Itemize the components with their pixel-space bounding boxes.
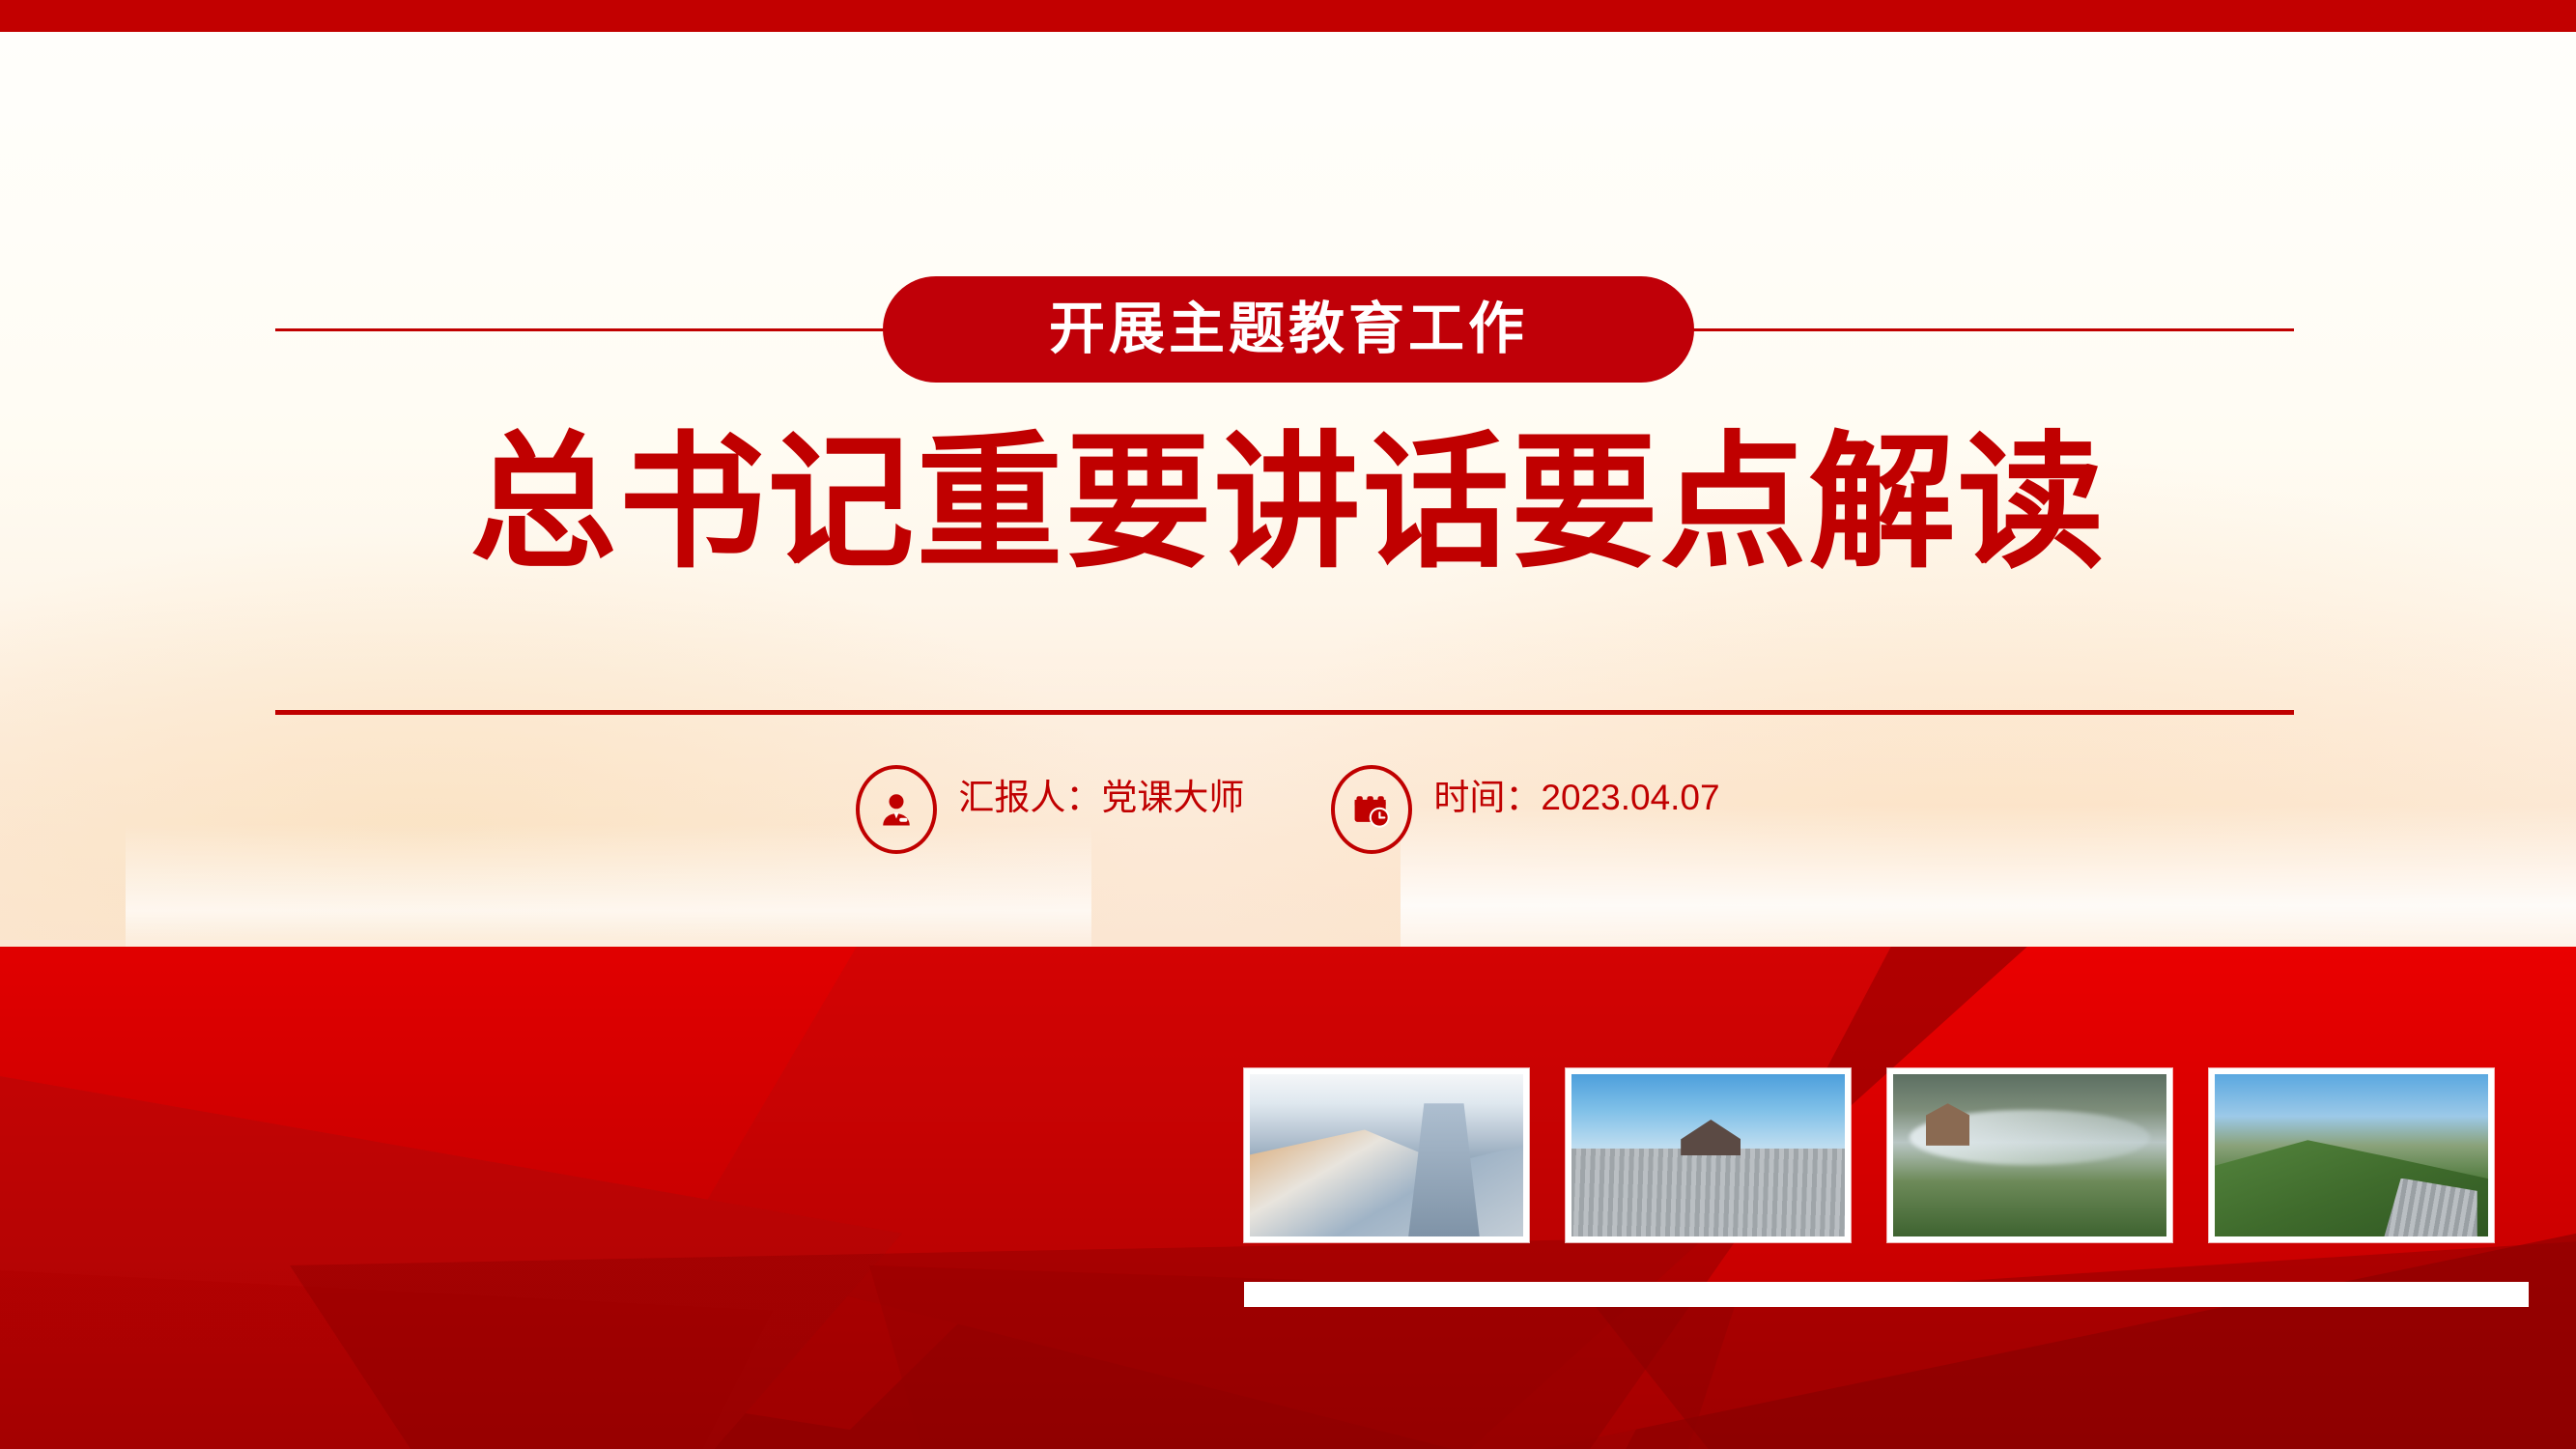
photo-gallery [1244, 1068, 2494, 1242]
calendar-clock-icon [1331, 765, 1412, 854]
gallery-photo [1566, 1068, 1851, 1242]
photo-misty-wall [1893, 1074, 2166, 1236]
top-accent-bar [0, 0, 2576, 32]
page-title: 总书记重要讲话要点解读 [0, 417, 2576, 590]
photo-snowy-great-wall [1250, 1074, 1523, 1236]
person-badge-icon [856, 765, 937, 854]
topic-badge-label: 开展主题教育工作 [1049, 301, 1528, 357]
gallery-photo [1244, 1068, 1529, 1242]
gallery-photo [1887, 1068, 2172, 1242]
gallery-photo [2209, 1068, 2494, 1242]
presenter-item: 汇报人：党课大师 [856, 763, 1244, 854]
presentation-title-slide: 开展主题教育工作 总书记重要讲话要点解读 汇报人：党课大师 [0, 0, 2576, 1449]
photo-green-ridge-wall [2215, 1074, 2488, 1236]
presenter-label: 汇报人：党课大师 [958, 763, 1244, 822]
bottom-white-bar [1244, 1282, 2529, 1307]
date-label: 时间：2023.04.07 [1433, 763, 1719, 822]
topic-badge: 开展主题教育工作 [883, 276, 1694, 383]
divider-line-bottom [275, 710, 2294, 715]
photo-gate-tower [1571, 1074, 1845, 1236]
meta-row: 汇报人：党课大师 时间：2023.04.07 [0, 763, 2576, 854]
date-item: 时间：2023.04.07 [1331, 763, 1719, 854]
